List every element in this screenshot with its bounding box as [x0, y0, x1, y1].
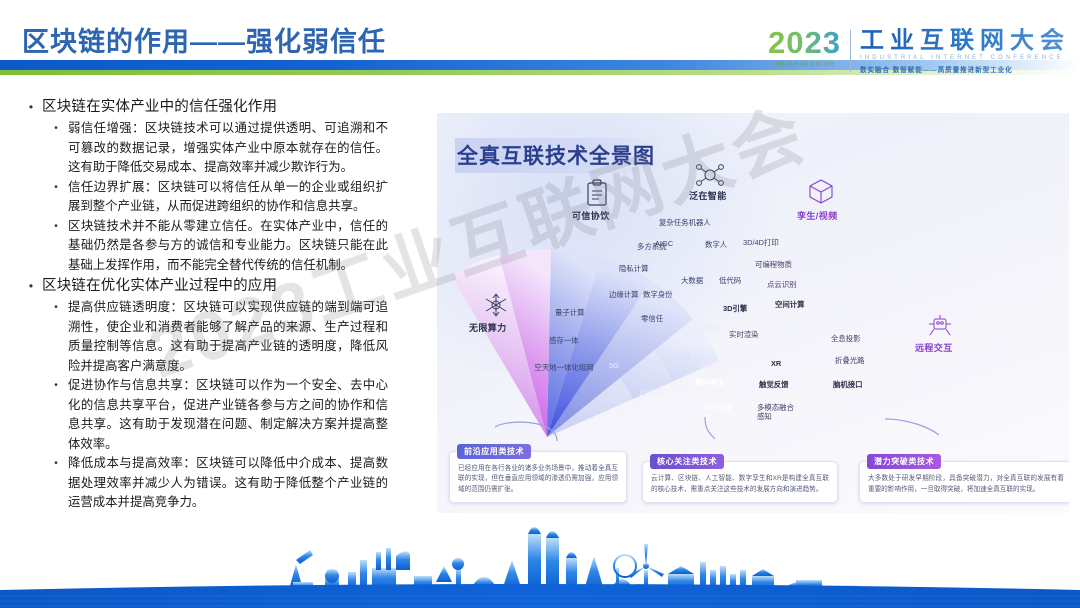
- bullet-item-level2: •促进协作与信息共享：区块链可以作为一个安全、去中心化的信息共享平台，促进产业链…: [20, 376, 430, 454]
- bullet-list: •区块链在实体产业中的信任强化作用•弱信任增强：区块链技术可以通过提供透明、可追…: [20, 96, 430, 513]
- bullet-marker: •: [44, 119, 68, 178]
- sector-item-label: 触觉反馈: [759, 379, 789, 390]
- bullet-item-level1: •区块链在优化实体产业过程中的应用: [20, 275, 430, 297]
- sector-item-label: 空天地一体化组网: [534, 363, 594, 372]
- sector-item-label: 零信任: [641, 313, 663, 324]
- bullet-text: 促进协作与信息共享：区块链可以作为一个安全、去中心化的信息共享平台，促进产业链各…: [68, 376, 388, 454]
- sector-item-label: 折叠光路: [835, 355, 865, 366]
- bullet-marker: •: [44, 376, 68, 454]
- bullet-item-level2: •提高供应链透明度：区块链可以实现供应链的端到端可追溯性，使企业和消费者能够了解…: [20, 298, 430, 376]
- sector-item-label: 空间计算: [775, 299, 805, 310]
- logo-year-subtitle: 中国·杭州 9月11日-12日: [774, 61, 835, 68]
- bullet-item-level2: •弱信任增强：区块链技术可以通过提供透明、可追溯和不可篡改的数据记录，增强实体产…: [20, 119, 430, 178]
- sector-item-label: 人工智能: [691, 323, 721, 334]
- sector-item-label: 大数据: [681, 275, 703, 286]
- sector-item-label: 低代码: [719, 275, 741, 286]
- sector-item-label: 云计算: [639, 387, 661, 398]
- bullet-marker: •: [44, 298, 68, 376]
- caption-card-potential: 潜力突破类技术 大多数处于研发早期阶段，具备突破潜力，对全真互联的发展有着重要的…: [859, 461, 1069, 503]
- sector-item-label: AIGC: [655, 239, 673, 248]
- caption-body: 已经应用在各行各业的诸多业务场景中，推动着全真互联的实现，但在垂直应用领域的渗透…: [458, 464, 618, 496]
- sector-item-label: 实时渲染: [729, 329, 759, 340]
- sector-head-ubiquitous-intelligence: 泛在智能: [689, 189, 727, 202]
- page-title: 区块链的作用——强化弱信任: [22, 20, 386, 59]
- caption-body: 云计算、区块链、人工智能、数字孪生和XR是构建全真互联的核心技术，需重点关注这些…: [651, 474, 829, 495]
- slide-header: 区块链的作用——强化弱信任 2023 中国·杭州 9月11日-12日 工业互联网…: [0, 0, 1080, 82]
- bullet-item-level1: •区块链在实体产业中的信任强化作用: [20, 96, 430, 118]
- logo-year: 2023: [768, 28, 841, 58]
- caption-tag: 潜力突破类技术: [867, 454, 941, 469]
- bullet-text: 提高供应链透明度：区块链可以实现供应链的端到端可追溯性，使企业和消费者能够了解产…: [68, 298, 388, 376]
- caption-tag: 核心关注类技术: [650, 454, 724, 469]
- sector-head-twin-video: 孪生/视频: [797, 209, 838, 222]
- panorama-figure: 全真互联技术全景图: [437, 113, 1069, 513]
- sector-item-label: 量子计算: [555, 307, 585, 318]
- sector-head-remote-interaction: 远程交互: [915, 341, 953, 354]
- remote-icon: [925, 311, 955, 339]
- bullet-marker: •: [44, 217, 68, 276]
- sector-item-label: 数字身份: [643, 289, 673, 300]
- logo-slogan: 数实融合 数智赋能——高质量推进新型工业化: [860, 64, 1070, 74]
- bullet-marker: •: [44, 454, 68, 513]
- sector-head-trusted-collab: 可信协饮: [572, 209, 610, 222]
- logo-name-en: INDUSTRIAL INTERNET CONFERENCE: [860, 55, 1070, 61]
- bullet-item-level2: •信任边界扩展：区块链可以将信任从单一的企业或组织扩展到整个产业链，从而促进跨组…: [20, 178, 430, 217]
- bullet-item-level2: •区块链技术并不能从零建立信任。在实体产业中，信任的基础仍然是各参与方的诚信和专…: [20, 217, 430, 276]
- caption-body: 大多数处于研发早期阶段，具备突破潜力，对全真互联的发展有着重要的影响作用，一旦取…: [868, 474, 1064, 495]
- sector-item-label: XR: [771, 359, 781, 368]
- sector-item-label: 可编程物质: [755, 259, 792, 270]
- caption-card-core: 核心关注类技术 云计算、区块链、人工智能、数字孪生和XR是构建全真互联的核心技术…: [642, 461, 838, 503]
- logo-name-block: 工业互联网大会 INDUSTRIAL INTERNET CONFERENCE 数…: [860, 28, 1070, 74]
- sector-item-label: 点云识别: [767, 279, 797, 290]
- caption-tag: 前沿应用类技术: [457, 444, 531, 459]
- conference-logo: 2023 中国·杭州 9月11日-12日 工业互联网大会 INDUSTRIAL …: [768, 28, 1070, 74]
- sector-item-label: 脑机接口: [833, 379, 863, 390]
- bullet-marker: •: [20, 96, 42, 118]
- bullet-text: 降低成本与提高效率：区块链可以降低中介成本、提高数据处理效率并减少人为错误。这有…: [68, 454, 388, 513]
- bullet-marker: •: [44, 178, 68, 217]
- bullet-text: 弱信任增强：区块链技术可以通过提供透明、可追溯和不可篡改的数据记录，增强实体产业…: [68, 119, 388, 178]
- clipboard-icon: [585, 179, 609, 207]
- sector-item-label: 全息投影: [831, 333, 861, 344]
- bullet-text: 区块链技术并不能从零建立信任。在实体产业中，信任的基础仍然是各参与方的诚信和专业…: [68, 217, 388, 276]
- sector-item-label: 3D/4D打印: [743, 237, 779, 248]
- bullet-text: 区块链在实体产业中的信任强化作用: [42, 96, 277, 118]
- sector-item-label: 隐私计算: [619, 263, 649, 274]
- sector-head-unlimited-compute: 无限算力: [469, 321, 507, 334]
- sector-item-label: 边缘计算: [609, 289, 639, 300]
- bullet-text: 区块链在优化实体产业过程中的应用: [42, 275, 277, 297]
- skyline-svg: [0, 516, 1080, 608]
- snowflake-icon: [481, 291, 511, 319]
- logo-year-block: 2023 中国·杭州 9月11日-12日: [768, 28, 850, 68]
- sector-item-label: 数字孪生: [695, 377, 725, 388]
- caption-arrows: [437, 413, 1069, 453]
- sector-item-label: 数字人: [705, 239, 727, 250]
- sector-item-label: 3D引擎: [723, 303, 747, 314]
- bullet-item-level2: •降低成本与提高效率：区块链可以降低中介成本、提高数据处理效率并减少人为错误。这…: [20, 454, 430, 513]
- fan-chart-svg: [437, 165, 1069, 455]
- sector-item-label: 复杂任务机器人: [659, 217, 711, 228]
- logo-divider: [850, 30, 851, 72]
- network-icon: [695, 161, 725, 189]
- bullet-text: 信任边界扩展：区块链可以将信任从单一的企业或组织扩展到整个产业链，从而促进跨组织…: [68, 178, 388, 217]
- sector-item-label: 感存一体: [549, 335, 579, 346]
- logo-name-cn: 工业互联网大会: [860, 28, 1070, 53]
- fan-chart: 无限算力 可信协饮 泛在智能 孪生/视频: [437, 165, 1069, 455]
- caption-card-frontier: 前沿应用类技术 已经应用在各行各业的诸多业务场景中，推动着全真互联的实现，但在垂…: [449, 451, 627, 504]
- bullet-marker: •: [20, 275, 42, 297]
- footer-skyline: [0, 516, 1080, 608]
- sector-item-label: 云渲染: [699, 359, 721, 370]
- sector-item-label: 5G: [609, 361, 619, 370]
- cube-icon: [807, 177, 835, 205]
- sector-item-label: 区块链: [669, 351, 691, 362]
